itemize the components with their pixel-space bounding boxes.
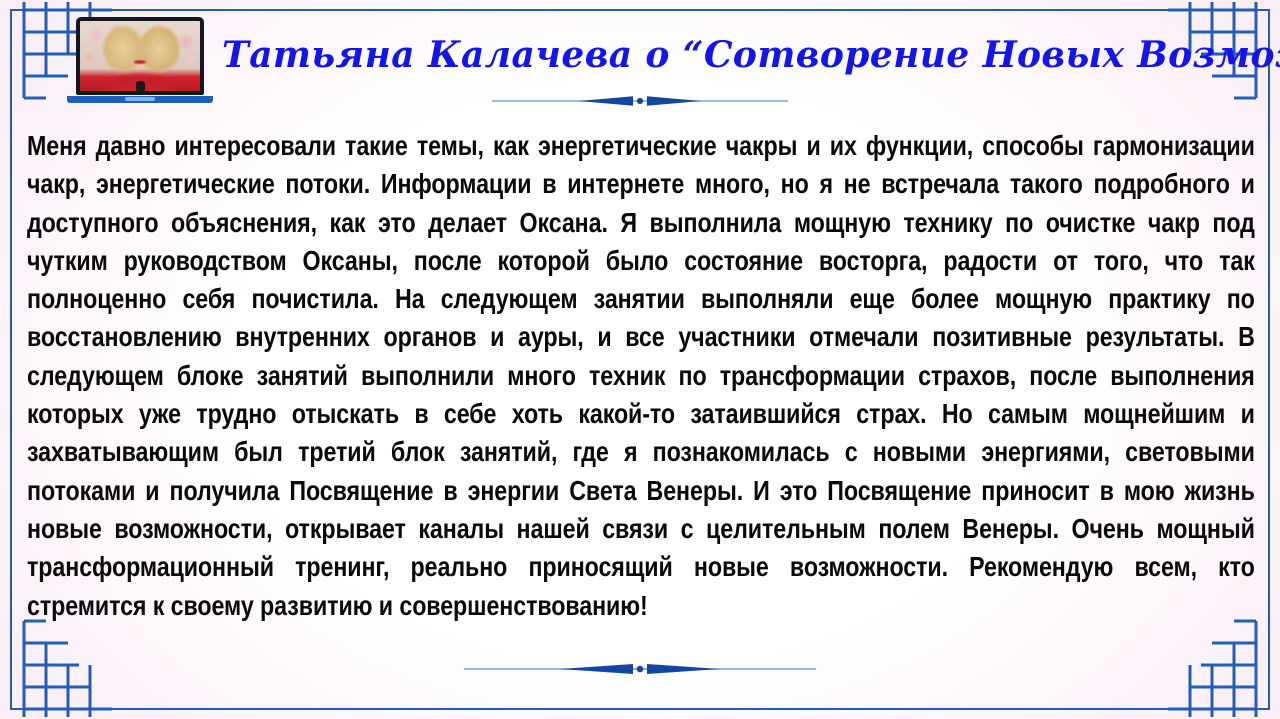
divider-bottom — [464, 660, 816, 678]
laptop-thumbnail — [67, 17, 213, 109]
testimonial-slide: Татьяна Калачева о “Сотворение Новых Воз… — [0, 0, 1280, 719]
page-title: Татьяна Калачева о “Сотворение Новых Воз… — [222, 32, 1212, 78]
testimonial-paragraph: Меня давно интересовали такие темы, как … — [27, 127, 1255, 625]
divider-top — [492, 92, 788, 110]
testimonial-body: Меня давно интересовали такие темы, как … — [27, 127, 1255, 625]
laptop-trackpad-notch — [125, 97, 155, 101]
speaker-photo — [80, 21, 200, 91]
photo-detail-mouth — [134, 60, 146, 64]
photo-detail-microphone — [136, 81, 145, 92]
laptop-screen — [80, 21, 200, 91]
laptop-screen-bezel — [76, 17, 204, 95]
